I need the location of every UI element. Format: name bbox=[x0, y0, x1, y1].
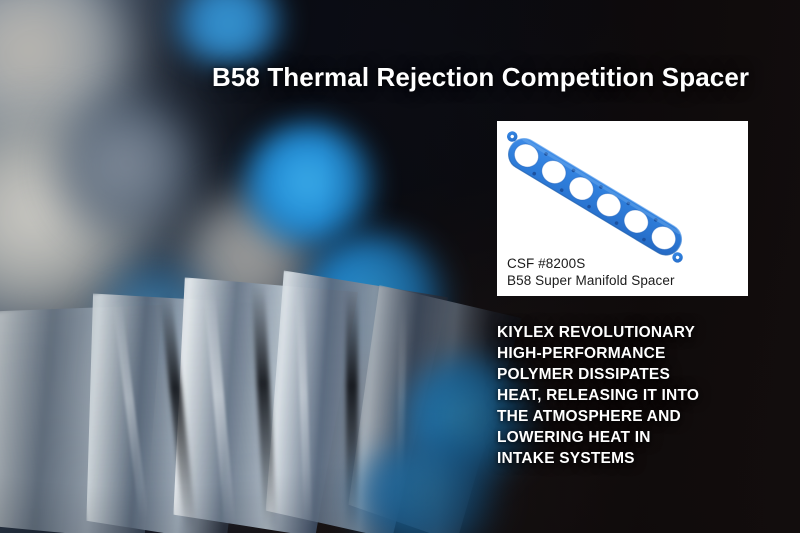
promo-banner: B58 Thermal Rejection Competition Spacer bbox=[0, 0, 800, 533]
product-caption: CSF #8200S B58 Super Manifold Spacer bbox=[507, 255, 675, 289]
product-card: CSF #8200S B58 Super Manifold Spacer bbox=[497, 121, 748, 296]
body-copy-line: LOWERING HEAT IN bbox=[497, 427, 747, 448]
body-copy-line: HEAT, RELEASING IT INTO bbox=[497, 385, 747, 406]
body-copy-line: HIGH-PERFORMANCE bbox=[497, 343, 747, 364]
body-copy-line: THE ATMOSPHERE AND bbox=[497, 406, 747, 427]
page-title: B58 Thermal Rejection Competition Spacer bbox=[212, 62, 749, 93]
body-copy-line: KIYLEX REVOLUTIONARY bbox=[497, 322, 747, 343]
product-name: B58 Super Manifold Spacer bbox=[507, 272, 675, 289]
body-copy-line: POLYMER DISSIPATES bbox=[497, 364, 747, 385]
body-copy: KIYLEX REVOLUTIONARY HIGH-PERFORMANCE PO… bbox=[497, 322, 747, 469]
product-part-number: CSF #8200S bbox=[507, 255, 675, 272]
body-copy-line: INTAKE SYSTEMS bbox=[497, 448, 747, 469]
